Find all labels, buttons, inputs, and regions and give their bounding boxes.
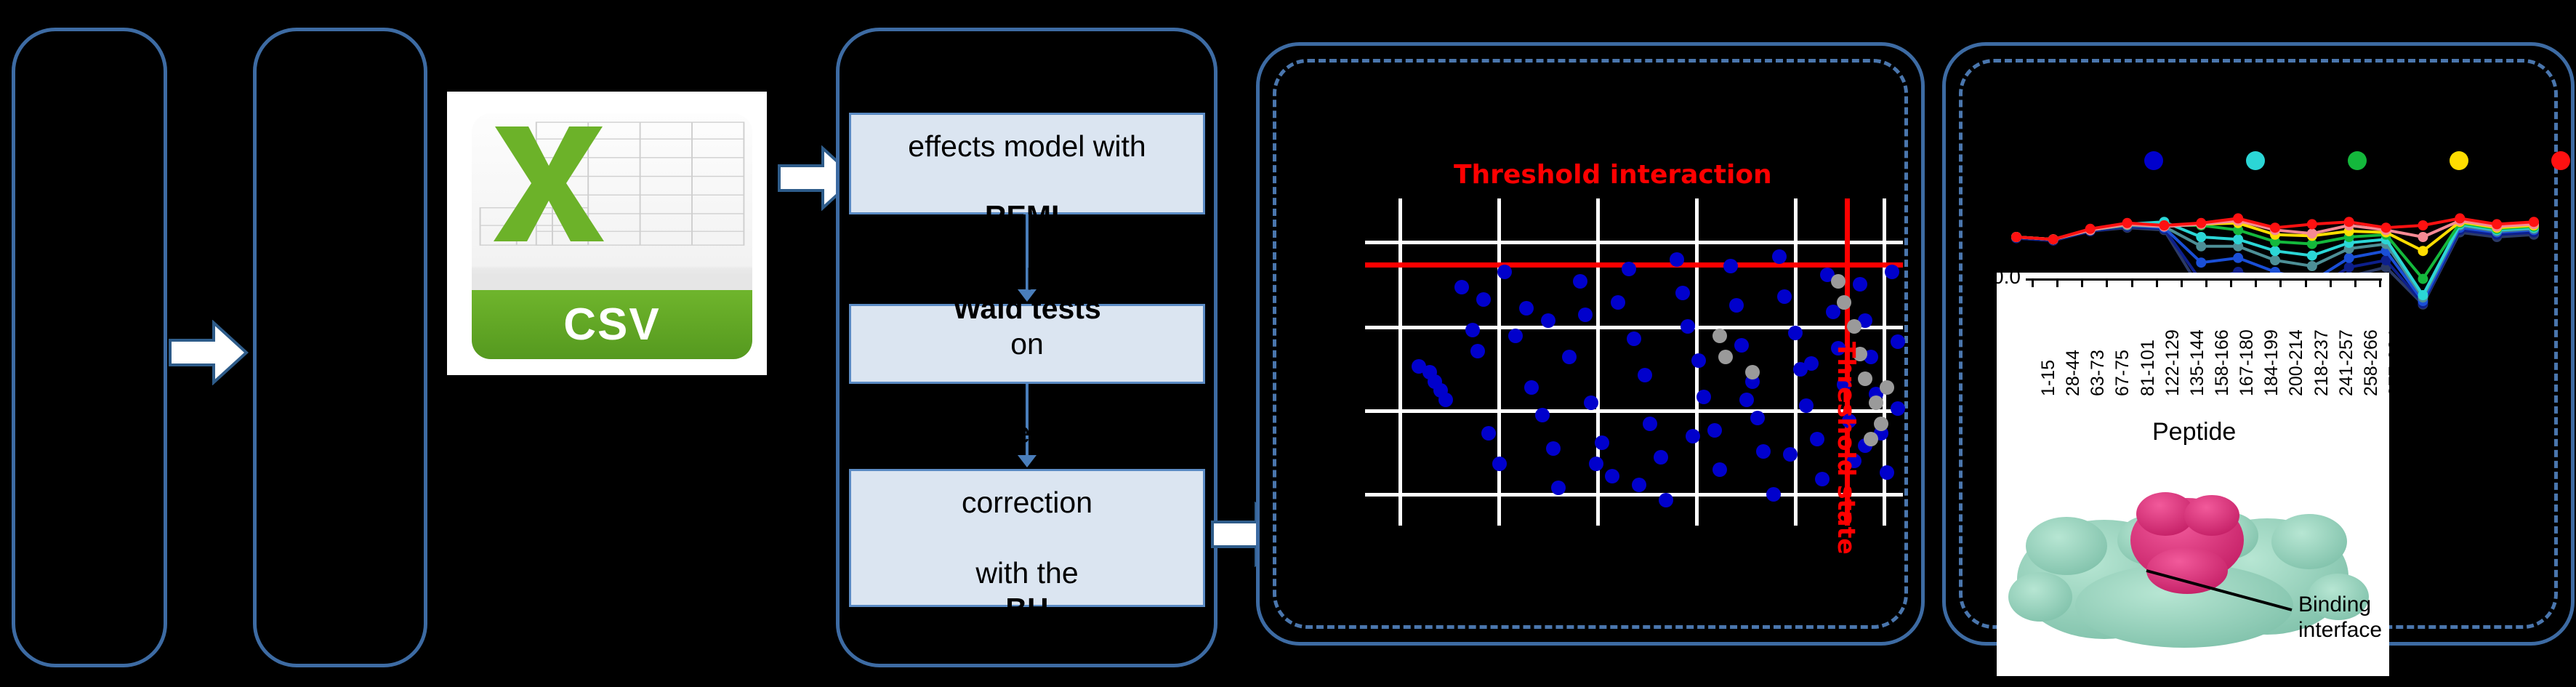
bh-line-1: Multiple testing [858,415,1196,450]
volcano-point [1497,265,1512,279]
volcano-point [1584,395,1598,410]
volcano-point [1739,393,1754,407]
volcano-point [1853,277,1867,292]
volcano-point [1756,444,1771,459]
volcano-point [1508,329,1523,343]
volcano-point [1734,338,1749,353]
volcano-point [1454,280,1469,294]
volcano-point [1772,249,1787,264]
x-axis-category-label: 67-75 [2112,350,2133,396]
volcano-point [1885,265,1899,279]
volcano-point [1815,472,1830,486]
volcano-point [1864,432,1878,446]
bh-term: BH [1005,592,1048,625]
bh-line-3-pre: with the [858,555,1196,590]
fit-model-box[interactable]: Fit a linear mixed- effects model with R… [849,113,1205,214]
volcano-point [1804,356,1819,371]
peptide-series-marker [2307,228,2317,238]
x-axis-category-label: 167-180 [2237,329,2258,396]
volcano-point [1891,401,1905,416]
volcano-point [1632,478,1646,492]
volcano-point [1573,274,1587,289]
wald-line-1-pre: Apply [858,256,1196,291]
volcano-point [1551,481,1566,495]
peptide-series-marker [2418,246,2428,256]
volcano-point [1766,487,1781,502]
volcano-point [1718,350,1733,364]
wald-line-1-post: on [858,326,1196,361]
volcano-plot[interactable] [1365,198,1903,526]
peptide-series-marker [2011,232,2021,242]
peptide-series-marker [2381,222,2391,233]
volcano-point [1810,432,1824,446]
x-axis-category-label: 184-199 [2261,329,2282,396]
x-axis-category-label: 158-166 [2212,329,2233,396]
peptide-series-marker [2418,290,2428,300]
volcano-point [1831,274,1846,289]
volcano-point [1546,441,1561,456]
peptide-series-marker [2529,217,2539,227]
volcano-point [1535,408,1550,422]
volcano-scatter-points [1365,198,1903,526]
x-axis-title: Peptide [2152,418,2236,446]
volcano-point [1470,344,1485,358]
x-axis-category-label: 28-44 [2063,350,2084,396]
structure-figure-card[interactable]: 0.0 1-1528-4463-7367-7581-101122-129135-… [1997,273,2389,676]
volcano-point [1611,295,1625,310]
volcano-point [1670,252,1684,267]
peptide-series-marker [2344,262,2354,273]
volcano-point [1696,390,1711,404]
fit-model-line-2: effects model with [858,129,1196,164]
stage-2-data-input[interactable] [253,28,427,667]
volcano-point [1777,289,1792,304]
volcano-point [1627,332,1641,346]
x-axis-category-label: 277-284 [2386,329,2407,396]
flowchart-root: CSV Fit a linear mixed- effects model wi… [0,0,2576,687]
volcano-point [1492,457,1507,471]
peptide-series-marker [2307,261,2317,271]
volcano-point [1891,334,1905,349]
volcano-point [1783,447,1798,462]
peptide-series-marker [2085,224,2096,234]
volcano-point [1605,469,1619,483]
binding-interface-line-1: Binding [2298,592,2382,618]
volcano-point [1578,308,1593,322]
peptide-series-marker [2233,234,2243,244]
volcano-point [1712,329,1727,343]
volcano-point [1562,350,1577,364]
peptide-series-marker [2196,232,2206,242]
peptide-series-marker [2455,213,2465,223]
peptide-series-marker [2233,213,2243,223]
wald-tests-box[interactable]: Apply Wald tests on the model parameters [849,304,1205,384]
peptide-series-marker [2307,251,2317,261]
x-axis-category-label: 63-73 [2088,350,2109,396]
stage-1-empty[interactable] [12,28,167,667]
volcano-point [1481,426,1496,441]
volcano-point [1476,292,1491,307]
peptide-series-marker [2418,274,2428,284]
volcano-point [1837,295,1851,310]
volcano-point [1799,398,1814,413]
volcano-point [1622,262,1636,276]
volcano-point [1880,380,1894,395]
x-axis-category-label: 1-15 [2038,360,2059,396]
peptide-series-marker [2492,219,2502,229]
volcano-point [1643,417,1657,431]
x-axis-category-label: 122-129 [2162,329,2183,396]
peptide-series-marker [2270,222,2280,233]
excel-x-glyph [491,121,607,244]
peptide-series-marker [2270,246,2280,256]
volcano-point [1524,380,1539,395]
csv-file-icon[interactable]: CSV [447,92,767,375]
volcano-point [1659,493,1673,507]
volcano-point [1788,326,1803,340]
binding-interface-line-2: interface [2298,618,2382,643]
arrow-into-data [169,320,249,385]
x-axis-category-label: 135-144 [2187,329,2208,396]
x-axis-category-label: 258-266 [2361,329,2382,396]
peptide-series-marker [2418,220,2428,230]
volcano-point [1723,259,1738,273]
volcano-point [1750,411,1765,425]
peptide-series-marker [2307,219,2317,229]
peptide-series-marker [2344,217,2354,227]
volcano-point [1654,450,1668,465]
peptide-series-marker [2270,255,2280,265]
volcano-point [1707,423,1722,438]
bh-line-3-post: procedure [858,626,1196,661]
volcano-point [1465,323,1480,337]
threshold-state-label: Threshold state [1832,342,1861,555]
volcano-point [1675,286,1690,300]
peptide-series-marker [2418,232,2428,242]
x-axis-category-label: 241-257 [2336,329,2357,396]
volcano-point [1869,395,1883,410]
volcano-point [1438,393,1453,407]
peptide-series-marker [2196,218,2206,228]
peptide-series-marker [2233,253,2243,263]
x-axis-category-label: 200-214 [2286,329,2307,396]
volcano-point [1691,353,1706,368]
binding-interface-callout: Binding interface [2298,592,2382,643]
threshold-interaction-label: Threshold interaction [1454,160,1772,190]
peptide-series-marker [2344,253,2354,263]
volcano-point [1712,462,1727,477]
peptide-series-marker [2196,257,2206,268]
volcano-point [1847,319,1861,334]
volcano-point [1519,301,1534,316]
volcano-point [1745,365,1760,379]
volcano-point [1880,465,1894,480]
volcano-point [1681,319,1695,334]
csv-label-text: CSV [563,299,660,350]
volcano-point [1686,429,1700,443]
volcano-point [1589,457,1603,471]
peptide-series-marker [2159,220,2169,230]
wald-term: Wald tests [953,292,1101,325]
peptide-legend-dot [2551,151,2570,170]
x-axis-category-label: 218-237 [2311,329,2333,396]
fit-model-line-1: Fit a linear mixed- [858,58,1196,93]
volcano-point [1729,298,1744,313]
x-axis-category-label: 81-101 [2138,340,2159,396]
peptide-series-marker [2122,218,2133,228]
volcano-point [1638,368,1652,382]
bh-correction-box[interactable]: Multiple testing correction with the BH … [849,469,1205,607]
volcano-point [1595,435,1609,450]
csv-format-label: CSV [472,290,752,359]
peptide-series-marker [2048,234,2058,244]
bh-line-2: correction [858,485,1196,520]
volcano-point [1541,313,1555,328]
peptide-series-marker [2196,241,2206,252]
